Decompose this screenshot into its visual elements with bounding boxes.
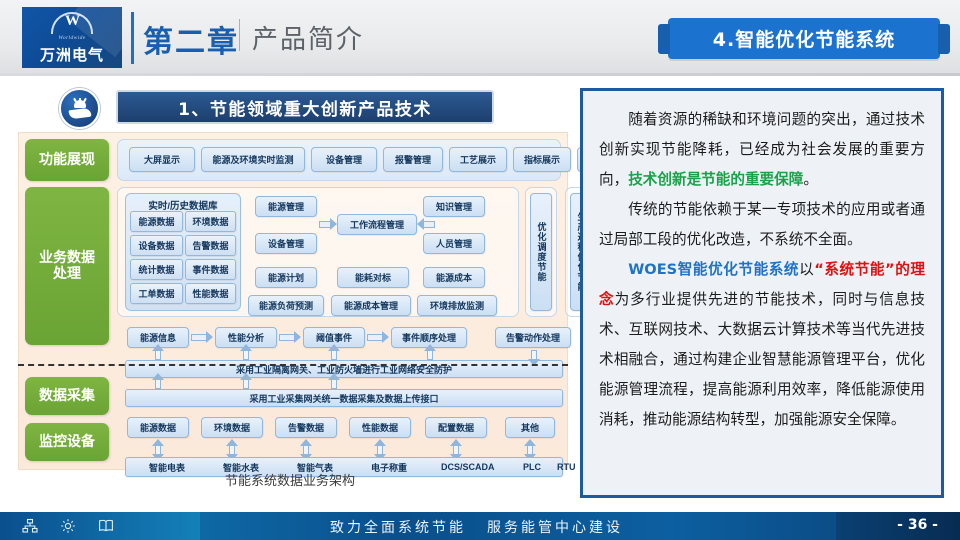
description-panel: 随着资源的稀缺和环境问题的突出，通过技术创新实现节能降耗，已经成为社会发展的重要… bbox=[580, 88, 944, 498]
db-chip-workorder-data[interactable]: 工单数据 bbox=[130, 283, 183, 304]
db-chip-device-data[interactable]: 设备数据 bbox=[130, 235, 183, 256]
chip-energy-env-monitor[interactable]: 能源及环境实时监测 bbox=[201, 147, 305, 172]
badge-notch-right bbox=[938, 24, 950, 54]
footer-slogan-right: 服务能管中心建设 bbox=[487, 517, 623, 537]
data-arrow-2 bbox=[229, 445, 235, 455]
chip-load-forecast[interactable]: 能源负荷预测 bbox=[248, 295, 324, 316]
security-arrow-5 bbox=[531, 350, 537, 360]
lane-business-processing-label-1: 业务数据 bbox=[39, 250, 95, 266]
paragraph-3: WOES智能优化节能系统以“系统节能”的理念为多行业提供先进的节能技术，同时与信… bbox=[599, 255, 925, 435]
lane-business-processing: 业务数据 处理 bbox=[25, 187, 109, 345]
data-arrow-1 bbox=[155, 445, 161, 455]
section-title-bar: 1、节能领域重大创新产品技术 bbox=[116, 90, 494, 124]
arrow-to-workflow-right bbox=[423, 221, 435, 228]
book-icon[interactable] bbox=[98, 518, 114, 534]
gear-icon[interactable] bbox=[60, 518, 76, 534]
p3-woes-highlight: WOES智能优化节能系统 bbox=[628, 261, 799, 278]
chip-alarm-management[interactable]: 报警管理 bbox=[383, 147, 443, 172]
p1-highlight: 技术创新是节能的重要保障 bbox=[628, 171, 803, 188]
chip-knowledge-management[interactable]: 知识管理 bbox=[423, 196, 485, 217]
db-chip-stat-data[interactable]: 统计数据 bbox=[130, 259, 183, 280]
chip-people-management[interactable]: 人员管理 bbox=[423, 233, 485, 254]
page-number: - 36 - bbox=[897, 517, 938, 533]
collection-gateway-bar: 采用工业采集网关统一数据采集及数据上传接口 bbox=[125, 389, 563, 407]
logo-company-name: 万洲电气 bbox=[40, 44, 104, 65]
chapter-subtitle: 产品简介 bbox=[252, 19, 364, 56]
data-arrow-5 bbox=[453, 445, 459, 455]
lane-business-processing-label-2: 处理 bbox=[53, 266, 81, 282]
footer-icon-group bbox=[22, 518, 114, 534]
security-gateway-bar: 采用工业隔离网关、工业防火墙进行工业网络安全防护 bbox=[125, 360, 563, 378]
org-chart-icon[interactable] bbox=[22, 518, 38, 534]
logo-mark-icon: W bbox=[51, 10, 93, 34]
header-accent-bar bbox=[131, 12, 134, 64]
chip-process-display[interactable]: 工艺展示 bbox=[449, 147, 507, 172]
chip-optimize-dispatch[interactable]: 优化调度节能 bbox=[530, 193, 552, 311]
diagram-caption: 节能系统数据业务架构 bbox=[150, 470, 430, 489]
data-chip-performance[interactable]: 性能数据 bbox=[349, 417, 411, 438]
chapter-title: 第二章 bbox=[143, 17, 239, 61]
device-label-rtu: RTU bbox=[557, 462, 576, 472]
flow-arrow-1 bbox=[191, 334, 207, 341]
flow-arrow-3 bbox=[367, 334, 383, 341]
chip-cost-management[interactable]: 能源成本管理 bbox=[331, 295, 411, 316]
chip-indicator-display[interactable]: 指标展示 bbox=[513, 147, 571, 172]
p3-part-b: 为多行业提供先进的节能技术，同时与信息技术、互联网技术、大数据云计算技术等当代先… bbox=[599, 291, 925, 428]
db-chip-performance-data[interactable]: 性能数据 bbox=[185, 283, 236, 304]
chip-energy-management[interactable]: 能源管理 bbox=[255, 196, 317, 217]
lane-data-collection: 数据采集 bbox=[25, 377, 109, 415]
security-arrow-3 bbox=[331, 350, 337, 360]
logo-initial: W bbox=[51, 14, 93, 29]
lane-monitor-device: 监控设备 bbox=[25, 423, 109, 461]
device-label-dcs: DCS/SCADA bbox=[441, 462, 495, 472]
lane-monitor-device-label: 监控设备 bbox=[39, 434, 95, 450]
header-divider-rule bbox=[0, 73, 960, 76]
security-arrow-4 bbox=[427, 350, 433, 360]
logo-subtext: Worldwide bbox=[58, 35, 85, 41]
db-chip-alarm-data[interactable]: 告警数据 bbox=[185, 235, 236, 256]
data-chip-environment[interactable]: 环境数据 bbox=[201, 417, 263, 438]
db-chip-energy-data[interactable]: 能源数据 bbox=[130, 211, 183, 232]
data-chip-config[interactable]: 配置数据 bbox=[425, 417, 487, 438]
lane-data-collection-label: 数据采集 bbox=[39, 388, 95, 404]
data-arrow-3 bbox=[303, 445, 309, 455]
data-chip-energy[interactable]: 能源数据 bbox=[127, 417, 189, 438]
db-chip-event-data[interactable]: 事件数据 bbox=[185, 259, 236, 280]
chip-emission-monitor[interactable]: 环境排放监测 bbox=[417, 295, 497, 316]
data-arrow-4 bbox=[377, 445, 383, 455]
topic-badge: 4.智能优化节能系统 bbox=[668, 18, 940, 59]
gateway-arrow-2 bbox=[243, 379, 249, 389]
security-arrow-2 bbox=[243, 350, 249, 360]
chip-alarm-action[interactable]: 告警动作处理 bbox=[495, 327, 571, 348]
flow-arrow-2 bbox=[279, 334, 295, 341]
topic-badge-label: 4.智能优化节能系统 bbox=[713, 25, 895, 52]
chip-business-device-management[interactable]: 设备管理 bbox=[255, 233, 317, 254]
lane-function-display-label: 功能展现 bbox=[39, 152, 95, 168]
database-title: 实时/历史数据库 bbox=[126, 198, 240, 212]
section-title-label: 1、节能领域重大创新产品技术 bbox=[178, 95, 432, 120]
diagram-dashed-separator bbox=[18, 364, 568, 366]
p3-red-highlight-1: “系统节能” bbox=[814, 261, 894, 278]
description-text: 随着资源的稀缺和环境问题的突出，通过技术创新实现节能降耗，已经成为社会发展的重要… bbox=[583, 91, 941, 435]
hand-leaf-icon bbox=[59, 88, 100, 129]
arrow-to-workflow-left bbox=[319, 221, 331, 228]
chip-energy-plan[interactable]: 能源计划 bbox=[255, 267, 317, 288]
badge-notch-left bbox=[658, 24, 670, 54]
company-logo: W Worldwide 万洲电气 bbox=[22, 7, 122, 68]
device-label-plc: PLC bbox=[523, 462, 541, 472]
paragraph-1: 随着资源的稀缺和环境问题的突出，通过技术创新实现节能降耗，已经成为社会发展的重要… bbox=[599, 105, 925, 195]
chip-energy-cost[interactable]: 能源成本 bbox=[423, 267, 485, 288]
chip-big-screen[interactable]: 大屏显示 bbox=[129, 147, 195, 172]
chip-energy-benchmark[interactable]: 能耗对标 bbox=[337, 267, 409, 288]
chip-workflow-management[interactable]: 工作流程管理 bbox=[337, 214, 417, 235]
gateway-arrow-3 bbox=[331, 379, 337, 389]
slide-root: W Worldwide 万洲电气 第二章 产品简介 4.智能优化节能系统 1、节… bbox=[0, 0, 960, 540]
footer-slogan-left: 致力全面系统节能 bbox=[330, 517, 466, 537]
paragraph-2: 传统的节能依赖于某一专项技术的应用或者通过局部工段的优化改造，不系统不全面。 bbox=[599, 195, 925, 255]
gateway-arrow-1 bbox=[155, 379, 161, 389]
chapter-separator bbox=[239, 19, 240, 51]
lane-function-display: 功能展现 bbox=[25, 139, 109, 181]
architecture-diagram: 功能展现 业务数据 处理 数据采集 监控设备 大屏显示 能源及环境实时监测 设备… bbox=[18, 132, 568, 470]
security-arrow-1 bbox=[155, 350, 161, 360]
db-chip-env-data[interactable]: 环境数据 bbox=[185, 211, 236, 232]
data-chip-alarm[interactable]: 告警数据 bbox=[275, 417, 337, 438]
p1-part-b: 。 bbox=[803, 171, 818, 188]
p3-part-a: 以 bbox=[799, 261, 814, 278]
data-arrow-6 bbox=[527, 445, 533, 455]
data-chip-other[interactable]: 其他 bbox=[505, 417, 555, 438]
chip-device-management[interactable]: 设备管理 bbox=[311, 147, 377, 172]
